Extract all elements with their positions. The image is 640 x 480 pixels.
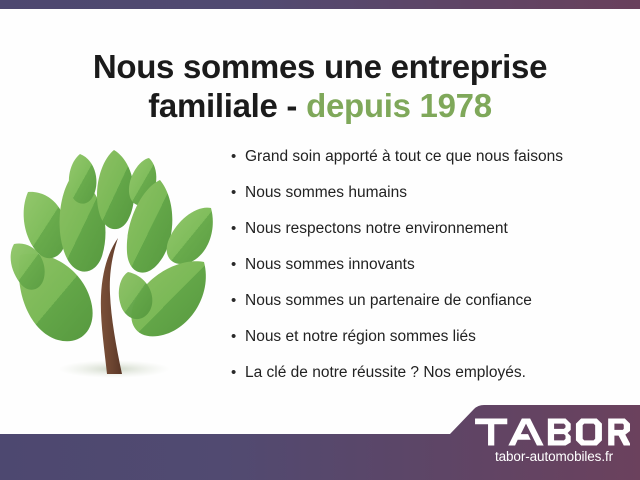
list-item: • Nous et notre région sommes liés	[231, 328, 631, 364]
list-item-label: Nous sommes un partenaire de confiance	[245, 292, 532, 310]
title-line-1: Nous sommes une entreprise	[0, 48, 640, 87]
list-item-label: Nous sommes innovants	[245, 256, 415, 274]
top-accent-bar	[0, 0, 640, 9]
list-item: • Nous sommes un partenaire de confiance	[231, 292, 631, 328]
slide-canvas: Nous sommes une entreprise familiale -de…	[0, 0, 640, 480]
tree-illustration	[8, 150, 223, 390]
benefits-list: • Grand soin apporté à tout ce que nous …	[231, 148, 631, 400]
list-item-label: Grand soin apporté à tout ce que nous fa…	[245, 148, 563, 166]
list-item-label: La clé de notre réussite ? Nos employés.	[245, 364, 526, 382]
tree-leaf	[97, 150, 134, 229]
bullet-marker-icon: •	[231, 329, 245, 344]
footer-banner: tabor-automobiles.fr	[0, 405, 640, 480]
list-item: • Grand soin apporté à tout ce que nous …	[231, 148, 631, 184]
list-item-label: Nous et notre région sommes liés	[245, 328, 476, 346]
title-line-2-plain: familiale -	[148, 87, 297, 124]
list-item: • Nous sommes humains	[231, 184, 631, 220]
logo-tagline: tabor-automobiles.fr	[474, 449, 634, 464]
bullet-marker-icon: •	[231, 365, 245, 380]
list-item: • Nous sommes innovants	[231, 256, 631, 292]
brand-logo[interactable]: tabor-automobiles.fr	[474, 416, 634, 464]
tabor-wordmark	[474, 416, 630, 448]
title-accent-since-1978: depuis 1978	[306, 87, 492, 124]
tree-trunk	[101, 238, 122, 374]
bullet-marker-icon: •	[231, 185, 245, 200]
title-line-2: familiale -depuis 1978	[0, 87, 640, 126]
list-item: • La clé de notre réussite ? Nos employé…	[231, 364, 631, 400]
bullet-marker-icon: •	[231, 293, 245, 308]
tree-leaf	[69, 154, 97, 204]
bullet-marker-icon: •	[231, 221, 245, 236]
bullet-marker-icon: •	[231, 149, 245, 164]
tree-leaf	[119, 272, 153, 319]
page-title: Nous sommes une entreprise familiale -de…	[0, 48, 640, 125]
tree-leaf	[167, 208, 213, 264]
list-item-label: Nous sommes humains	[245, 184, 407, 202]
bullet-marker-icon: •	[231, 257, 245, 272]
list-item-label: Nous respectons notre environnement	[245, 220, 508, 238]
list-item: • Nous respectons notre environnement	[231, 220, 631, 256]
